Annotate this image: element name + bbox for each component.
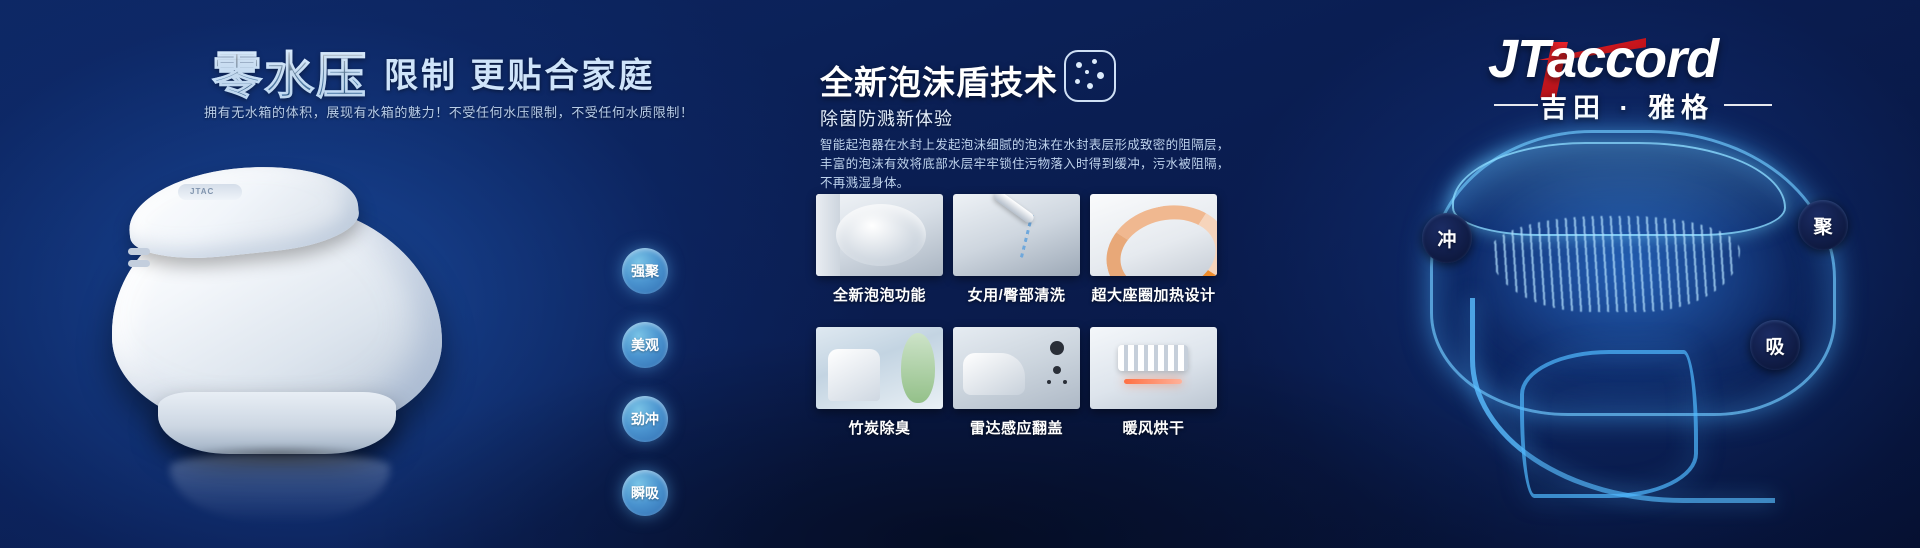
xray-trapway [1520,350,1698,498]
toilet-side-button-2 [128,260,150,267]
feature-cell-4[interactable]: 竹炭除臭 [816,327,943,438]
feature-cell-3[interactable]: 超大座圈加热设计 [1090,194,1217,305]
badge-xi-label: 吸 [1765,332,1784,359]
badge-meiguan-label: 美观 [631,335,659,355]
feature-caption-5: 雷达感应翻盖 [953,417,1080,438]
bubble-dot-3 [1097,72,1104,79]
center-subtitle: 除菌防溅新体验 [820,105,953,131]
badge-qiangju: 强聚 [622,248,668,294]
badge-ju-label: 聚 [1813,212,1832,239]
bubble-dot-2 [1092,59,1097,64]
right-panel: JTaccord 吉田 · 雅格 冲 聚 吸 [1392,0,1920,548]
center-title: 全新泡沫盾技术 [820,56,1058,104]
center-body-line-3: 不再溅湿身体。 [820,174,1240,193]
toilet-side-button-1 [128,248,150,255]
badge-xi: 吸 [1750,320,1800,370]
brand-logo: JTaccord 吉田 · 雅格 [1488,28,1828,120]
center-body-line-1: 智能起泡器在水封上发起泡沫细腻的泡沫在水封表层形成致密的阻隔层， [820,136,1240,155]
feature-row-1: 全新泡泡功能 女用/臀部清洗 超大座圈加热设计 [816,194,1316,305]
toilet-bowl-photo [816,194,943,276]
heated-seat-ring-photo [1090,194,1217,276]
center-body-line-2: 丰富的泡沫有效将底部水层牢牢锁住污物落入时得到缓冲，污水被阻隔， [820,155,1240,174]
badge-chong-label: 冲 [1437,225,1456,252]
feature-cell-1[interactable]: 全新泡泡功能 [816,194,943,305]
bubble-dot-4 [1075,79,1080,84]
badge-jingchong: 劲冲 [622,396,668,442]
feature-caption-4: 竹炭除臭 [816,417,943,438]
badge-ju: 聚 [1798,200,1848,250]
feature-cell-2[interactable]: 女用/臀部清洗 [953,194,1080,305]
toilet-brand-mark: JTAC [190,187,214,196]
center-body-text: 智能起泡器在水封上发起泡沫细腻的泡沫在水封表层形成致密的阻隔层， 丰富的泡沫有效… [820,136,1240,193]
left-badge-column: 强聚 美观 劲冲 瞬吸 [622,248,668,544]
bubble-dot-5 [1087,83,1093,89]
promo-banner: 零水压限制 更贴合家庭 拥有无水箱的体积，展现有水箱的魅力！不受任何水压限制，不… [0,0,1920,548]
toilet-reflection [170,454,390,524]
warm-air-dryer-photo [1090,327,1217,409]
badge-chong: 冲 [1422,213,1472,263]
headline-sub: 限制 更贴合家庭 [384,48,655,97]
logo-latin-text: JTaccord [1488,28,1718,90]
headline: 零水压限制 更贴合家庭 [212,36,655,108]
spray-wand-photo [953,194,1080,276]
toilet-xray-cutaway: 冲 聚 吸 [1400,120,1870,540]
feature-caption-3: 超大座圈加热设计 [1090,284,1217,305]
center-panel: 全新泡沫盾技术 除菌防溅新体验 智能起泡器在水封上发起泡沫细腻的泡沫在水封表层形… [812,0,1392,548]
radar-sensor-lid-photo [953,327,1080,409]
badge-shunxi-label: 瞬吸 [631,483,659,503]
feature-caption-6: 暖风烘干 [1090,417,1217,438]
product-image-toilet: JTAC [84,140,484,470]
bubble-dot-1 [1076,62,1082,68]
feature-caption-2: 女用/臀部清洗 [953,284,1080,305]
feature-grid: 全新泡泡功能 女用/臀部清洗 超大座圈加热设计 竹炭除臭 雷 [816,194,1316,444]
badge-qiangju-label: 强聚 [631,261,659,281]
headline-main: 零水压 [212,36,368,108]
badge-shunxi: 瞬吸 [622,470,668,516]
badge-meiguan: 美观 [622,322,668,368]
bubble-shield-icon [1064,50,1116,102]
logo-rule-left [1494,104,1538,106]
logo-rule-right [1724,104,1772,106]
feature-row-2: 竹炭除臭 雷达感应翻盖 暖风烘干 [816,327,1316,438]
feature-cell-6[interactable]: 暖风烘干 [1090,327,1217,438]
feature-cell-5[interactable]: 雷达感应翻盖 [953,327,1080,438]
left-description: 拥有无水箱的体积，展现有水箱的魅力！不受任何水压限制，不受任何水质限制！ [204,102,694,121]
feature-caption-1: 全新泡泡功能 [816,284,943,305]
left-panel: 零水压限制 更贴合家庭 拥有无水箱的体积，展现有水箱的魅力！不受任何水压限制，不… [0,0,660,548]
bamboo-charcoal-photo [816,327,943,409]
bubble-dot-6 [1085,70,1089,74]
badge-jingchong-label: 劲冲 [631,409,659,429]
